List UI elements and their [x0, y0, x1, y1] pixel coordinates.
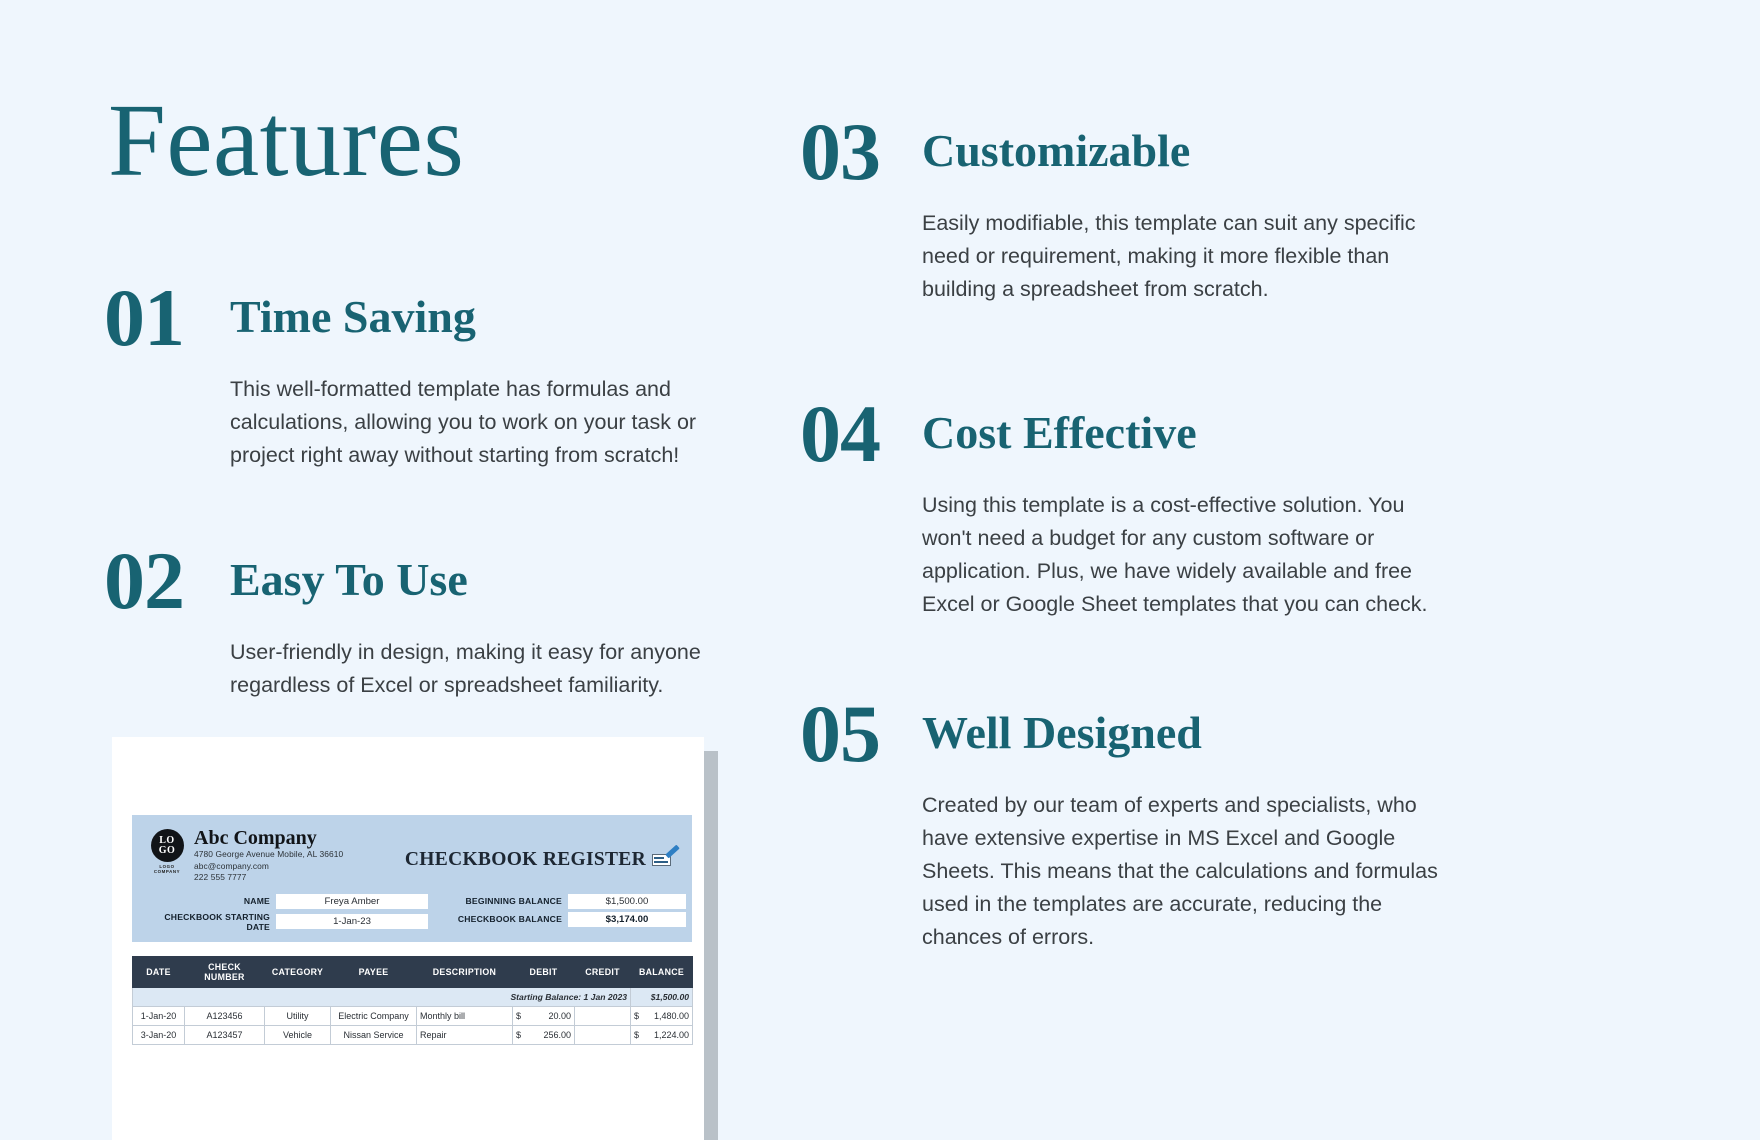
cell-date: 1-Jan-20 — [133, 1006, 185, 1025]
feature-heading-row: 04 Cost Effective — [800, 396, 1440, 471]
company-info: Abc Company 4780 George Avenue Mobile, A… — [194, 827, 343, 884]
cell-credit — [575, 1006, 631, 1025]
table-row: 1-Jan-20 A123456 Utility Electric Compan… — [133, 1006, 693, 1025]
cell-balance: $1,480.00 — [631, 1006, 693, 1025]
cell-check-number: A123457 — [185, 1025, 265, 1044]
column-header-check-number: CHECK NUMBER — [185, 956, 265, 987]
starting-balance-row: Starting Balance: 1 Jan 2023 $1,500.00 — [133, 987, 693, 1006]
logo-caption: LOGO COMPANY — [148, 864, 186, 874]
feature-number: 02 — [104, 543, 230, 618]
feature-number: 01 — [104, 280, 230, 355]
spreadsheet-header-top: LO GO LOGO COMPANY Abc Company 4780 Geor… — [146, 827, 678, 884]
column-header-credit: CREDIT — [575, 956, 631, 987]
start-date-field-row: CHECKBOOK STARTING DATE 1-Jan-23 — [146, 912, 428, 932]
beginning-balance-row: BEGINNING BALANCE $1,500.00 — [446, 894, 686, 909]
page-title: Features — [108, 86, 464, 195]
cell-category: Vehicle — [265, 1025, 331, 1044]
cell-description: Repair — [417, 1025, 513, 1044]
feature-title: Cost Effective — [922, 396, 1197, 456]
checkbook-balance-row: CHECKBOOK BALANCE $3,174.00 — [446, 912, 686, 927]
feature-heading-row: 03 Customizable — [800, 114, 1440, 189]
cell-debit: $256.00 — [513, 1025, 575, 1044]
feature-block-02: 02 Easy To Use User-friendly in design, … — [104, 543, 744, 702]
column-header-category: CATEGORY — [265, 956, 331, 987]
cell-debit-amount: 256.00 — [543, 1030, 571, 1040]
feature-title: Well Designed — [922, 696, 1202, 756]
feature-number: 05 — [800, 696, 922, 771]
cell-payee: Electric Company — [331, 1006, 417, 1025]
summary-fields-left: NAME Freya Amber CHECKBOOK STARTING DATE… — [146, 894, 428, 932]
cell-credit — [575, 1025, 631, 1044]
feature-description: This well-formatted template has formula… — [230, 373, 744, 472]
cell-date: 3-Jan-20 — [133, 1025, 185, 1044]
feature-description: Using this template is a cost-effective … — [922, 489, 1440, 621]
cell-debit-currency: $ — [516, 1011, 521, 1021]
register-title-row: CHECKBOOK REGISTER — [405, 827, 678, 871]
name-label: NAME — [146, 896, 276, 906]
column-header-balance: BALANCE — [631, 956, 693, 987]
cell-balance-currency: $ — [634, 1030, 639, 1040]
table-row: 3-Jan-20 A123457 Vehicle Nissan Service … — [133, 1025, 693, 1044]
cell-category: Utility — [265, 1006, 331, 1025]
register-title: CHECKBOOK REGISTER — [405, 849, 646, 871]
cell-debit: $20.00 — [513, 1006, 575, 1025]
feature-heading-row: 01 Time Saving — [104, 280, 744, 355]
company-phone: 222 555 7777 — [194, 872, 343, 884]
feature-block-04: 04 Cost Effective Using this template is… — [800, 396, 1440, 621]
logo-line-2: GO — [159, 846, 176, 856]
column-header-debit: DEBIT — [513, 956, 575, 987]
cell-balance-amount: 1,480.00 — [654, 1011, 689, 1021]
logo-line-1: LO — [159, 836, 174, 846]
feature-heading-row: 05 Well Designed — [800, 696, 1440, 771]
checkbook-balance-label: CHECKBOOK BALANCE — [446, 914, 568, 924]
cell-payee: Nissan Service — [331, 1025, 417, 1044]
column-header-description: DESCRIPTION — [417, 956, 513, 987]
summary-fields-right: BEGINNING BALANCE $1,500.00 CHECKBOOK BA… — [446, 894, 686, 932]
cell-debit-amount: 20.00 — [548, 1011, 571, 1021]
logo-icon: LO GO — [151, 829, 184, 862]
cell-description: Monthly bill — [417, 1006, 513, 1025]
features-page: Features 01 Time Saving This well-format… — [0, 0, 1760, 1140]
starting-balance-value: $1,500.00 — [631, 987, 693, 1006]
register-table: DATE CHECK NUMBER CATEGORY PAYEE DESCRIP… — [132, 956, 693, 1045]
feature-number: 04 — [800, 396, 922, 471]
company-email: abc@company.com — [194, 861, 343, 873]
start-date-label: CHECKBOOK STARTING DATE — [146, 912, 276, 932]
feature-title: Easy To Use — [230, 543, 468, 603]
spreadsheet-header: LO GO LOGO COMPANY Abc Company 4780 Geor… — [132, 815, 692, 942]
summary-fields: NAME Freya Amber CHECKBOOK STARTING DATE… — [146, 894, 678, 932]
template-preview-image: LO GO LOGO COMPANY Abc Company 4780 Geor… — [112, 737, 704, 1140]
cell-balance: $1,224.00 — [631, 1025, 693, 1044]
feature-block-01: 01 Time Saving This well-formatted templ… — [104, 280, 744, 472]
feature-description: User-friendly in design, making it easy … — [230, 636, 744, 702]
column-header-payee: PAYEE — [331, 956, 417, 987]
company-address: 4780 George Avenue Mobile, AL 36610 — [194, 849, 343, 861]
feature-title: Customizable — [922, 114, 1190, 174]
cell-balance-amount: 1,224.00 — [654, 1030, 689, 1040]
cell-debit-currency: $ — [516, 1030, 521, 1040]
column-header-date: DATE — [133, 956, 185, 987]
check-edit-icon — [652, 851, 678, 869]
beginning-balance-label: BEGINNING BALANCE — [446, 896, 568, 906]
table-header-row: DATE CHECK NUMBER CATEGORY PAYEE DESCRIP… — [133, 956, 693, 987]
cell-balance-currency: $ — [634, 1011, 639, 1021]
name-field-row: NAME Freya Amber — [146, 894, 428, 909]
feature-title: Time Saving — [230, 280, 476, 340]
checkbook-balance-value[interactable]: $3,174.00 — [568, 912, 686, 927]
company-name: Abc Company — [194, 827, 343, 849]
feature-number: 03 — [800, 114, 922, 189]
name-input[interactable]: Freya Amber — [276, 894, 428, 909]
spreadsheet-content: LO GO LOGO COMPANY Abc Company 4780 Geor… — [132, 815, 704, 1140]
feature-block-03: 03 Customizable Easily modifiable, this … — [800, 114, 1440, 306]
starting-balance-label: Starting Balance: 1 Jan 2023 — [133, 987, 631, 1006]
start-date-input[interactable]: 1-Jan-23 — [276, 914, 428, 929]
pen-icon — [665, 845, 679, 859]
cell-check-number: A123456 — [185, 1006, 265, 1025]
logo-block: LO GO LOGO COMPANY — [146, 827, 188, 874]
feature-block-05: 05 Well Designed Created by our team of … — [800, 696, 1440, 954]
feature-description: Easily modifiable, this template can sui… — [922, 207, 1440, 306]
feature-description: Created by our team of experts and speci… — [922, 789, 1440, 954]
beginning-balance-value[interactable]: $1,500.00 — [568, 894, 686, 909]
feature-heading-row: 02 Easy To Use — [104, 543, 744, 618]
